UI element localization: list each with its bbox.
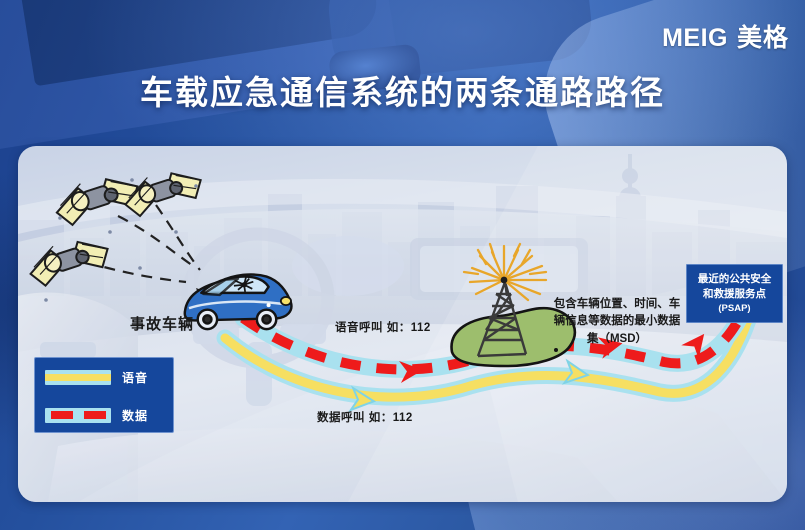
slide-canvas: MEIG 美格 车载应急通信系统的两条通路路径 <box>0 0 805 530</box>
vehicle-label: 事故车辆 <box>130 314 194 336</box>
psap-box: 最近的公共安全 和救援服务点 (PSAP) <box>686 264 783 323</box>
voice-swatch <box>45 370 111 385</box>
legend-label-data: 数据 <box>122 407 148 424</box>
logo-mark-text: MEIG <box>662 24 728 53</box>
logo-cn-text: 美格 <box>737 18 789 54</box>
voice-call-label: 语音呼叫 如：112 <box>335 320 431 337</box>
path-legend: 语音 数据 <box>34 357 174 433</box>
psap-line-3: (PSAP) <box>691 302 778 316</box>
msd-label: 包含车辆位置、时间、车辆信息等数据的最小数据集（MSD） <box>549 296 685 348</box>
meig-logo: MEIG 美格 <box>662 18 789 54</box>
page-title: 车载应急通信系统的两条通路路径 <box>0 66 805 114</box>
legend-label-voice: 语音 <box>122 369 148 386</box>
psap-line-2: 和救援服务点 <box>691 287 778 302</box>
psap-line-1: 最近的公共安全 <box>691 272 778 287</box>
legend-item-data: 数据 <box>35 396 173 434</box>
data-swatch <box>45 408 111 423</box>
data-call-label: 数据呼叫 如：112 <box>317 410 413 427</box>
legend-item-voice: 语音 <box>35 358 173 396</box>
